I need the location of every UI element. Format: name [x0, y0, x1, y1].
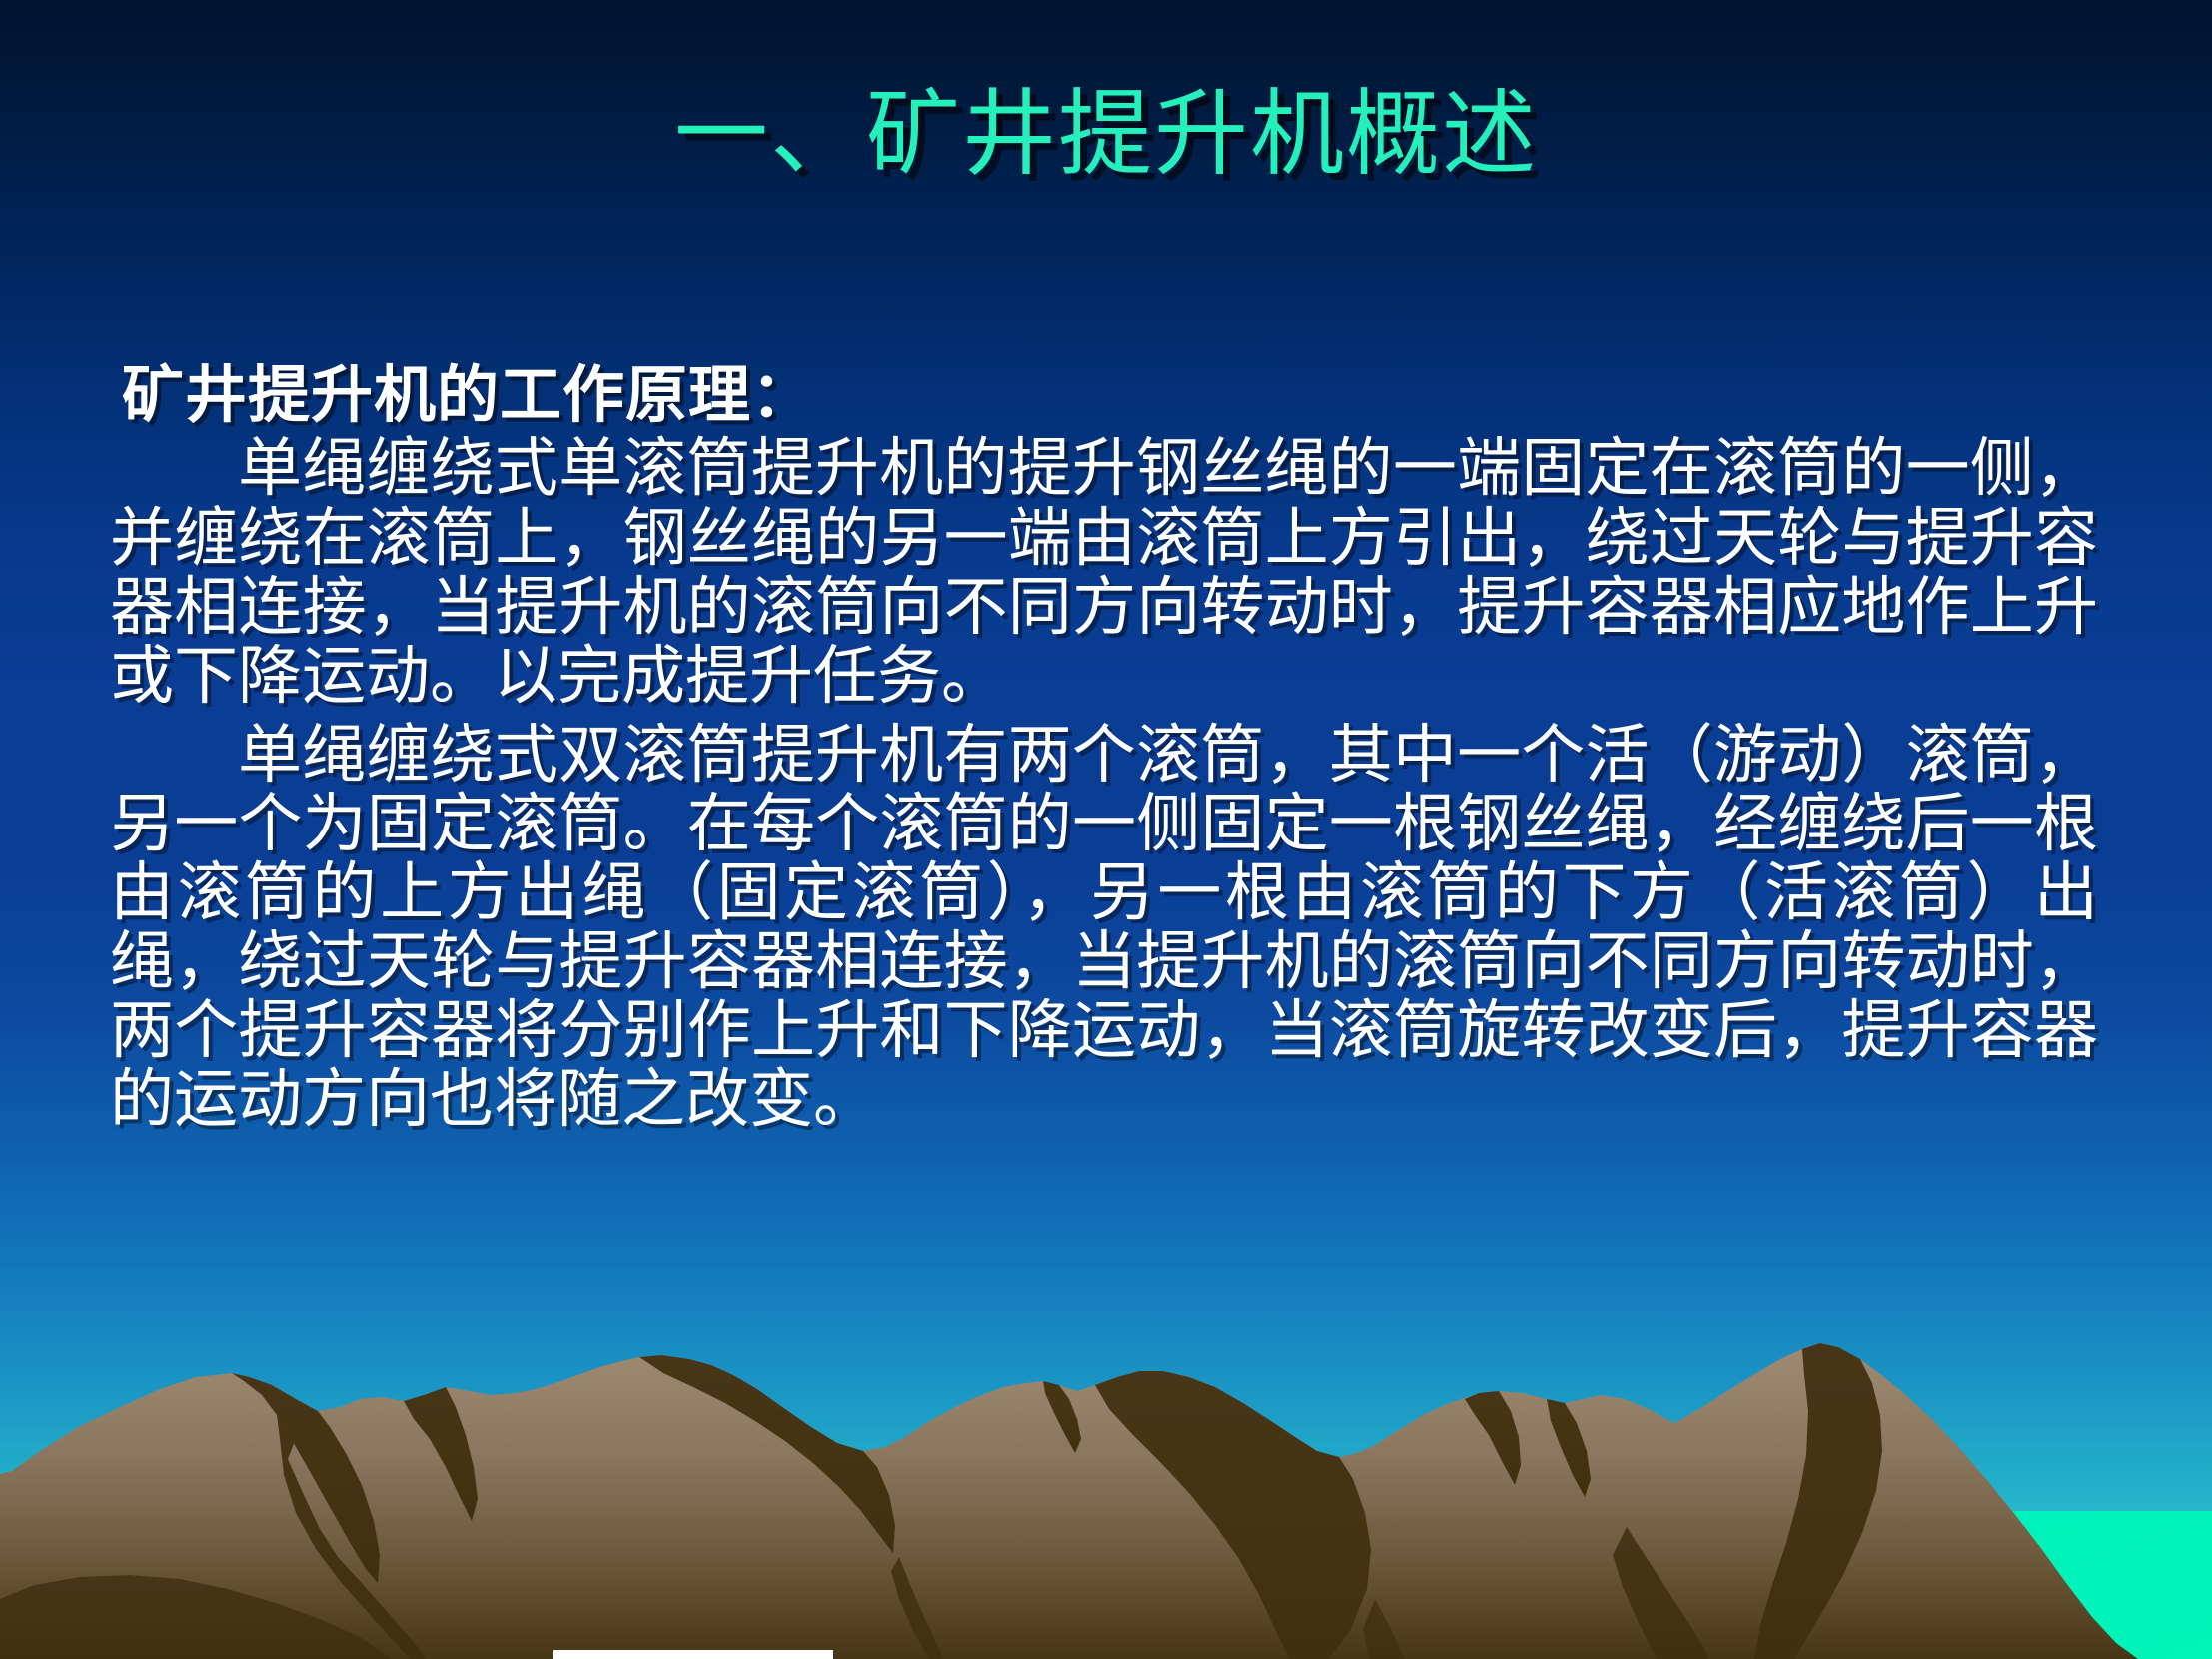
bottom-white-tab	[553, 1650, 833, 1659]
mountain-range-graphic	[0, 1299, 2212, 1659]
presentation-slide: 一、矿井提升机概述 矿井提升机的工作原理： 单绳缠绕式单滚筒提升机的提升钢丝绳的…	[0, 0, 2212, 1659]
slide-title: 一、矿井提升机概述	[0, 86, 2212, 185]
body-heading: 矿井提升机的工作原理：	[122, 360, 2098, 429]
slide-body: 矿井提升机的工作原理： 单绳缠绕式单滚筒提升机的提升钢丝绳的一端固定在滚筒的一侧…	[110, 360, 2098, 1136]
body-paragraph-2: 单绳缠绕式双滚筒提升机有两个滚筒，其中一个活（游动）滚筒，另一个为固定滚筒。在每…	[110, 722, 2098, 1136]
body-paragraph-1: 单绳缠绕式单滚筒提升机的提升钢丝绳的一端固定在滚筒的一侧，并缠绕在滚筒上，钢丝绳…	[110, 435, 2098, 711]
